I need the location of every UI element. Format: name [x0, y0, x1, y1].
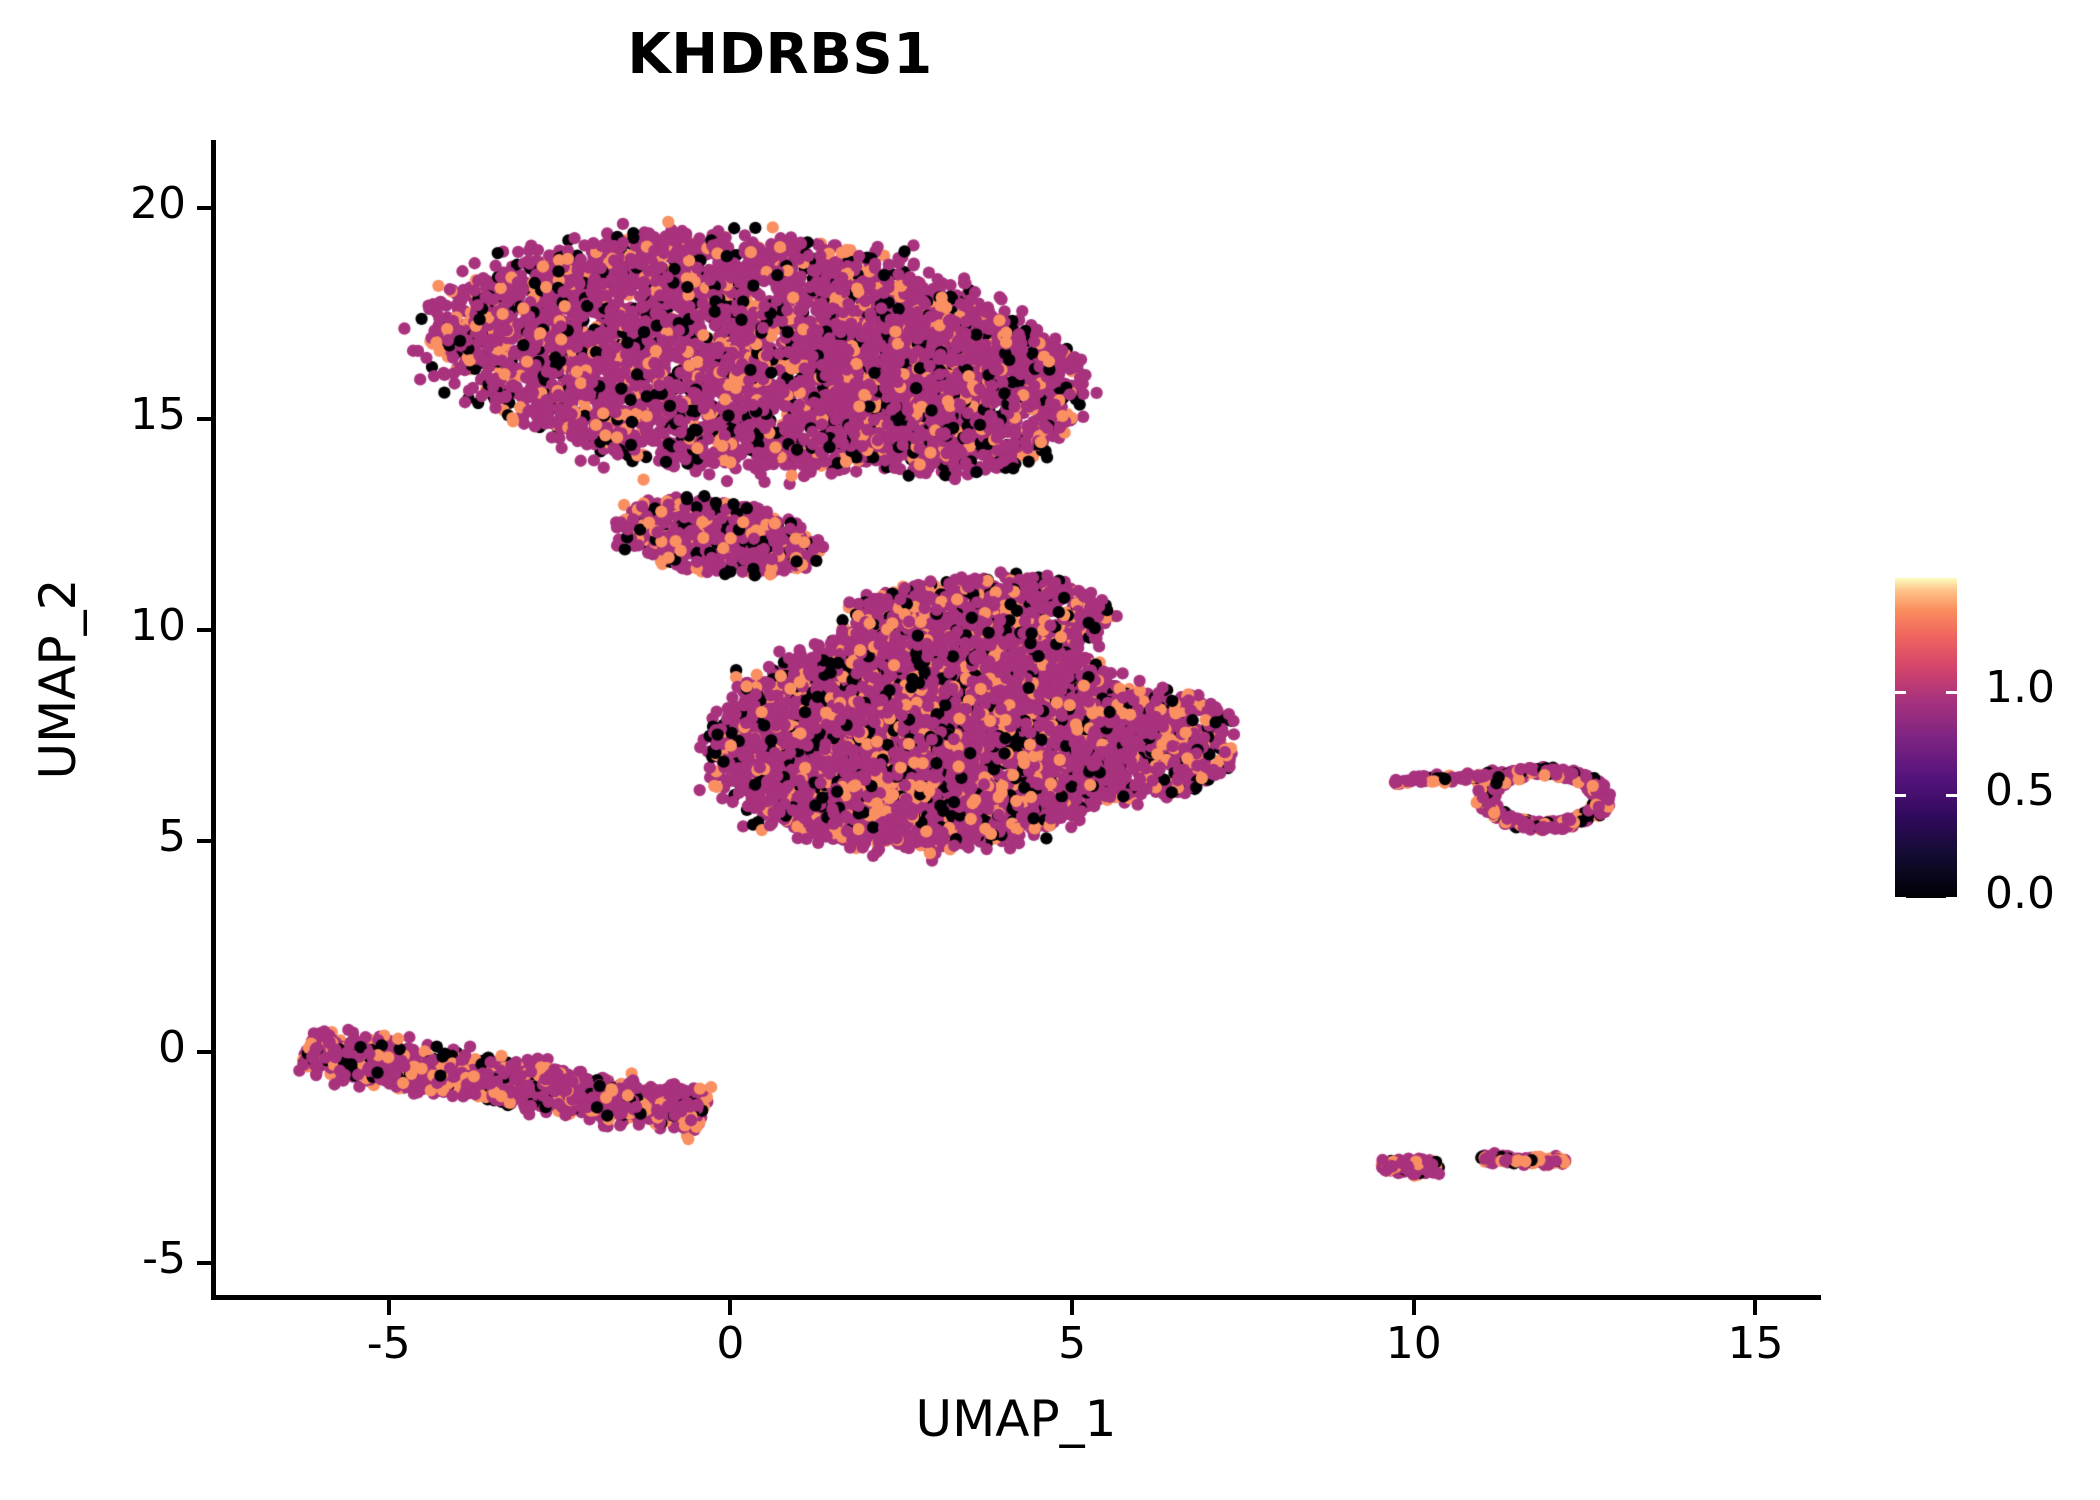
- y-tick-label: 20: [130, 178, 186, 229]
- x-tick-label: 15: [1675, 1318, 1835, 1369]
- colorbar-tick-label: 0.0: [1985, 868, 2055, 919]
- scatter-canvas: [211, 140, 1817, 1297]
- y-tick-mark: [197, 1261, 211, 1265]
- colorbar-tick-label: 1.0: [1985, 662, 2055, 713]
- y-tick-mark: [197, 628, 211, 632]
- y-tick-label: 0: [158, 1022, 186, 1073]
- y-tick-mark: [197, 839, 211, 843]
- colorbar-tick-mark: [1946, 691, 1957, 694]
- x-axis-spine: [211, 1295, 1821, 1300]
- y-tick-label: 10: [130, 600, 186, 651]
- x-tick-mark: [728, 1300, 732, 1315]
- colorbar-tick-label: 0.5: [1985, 765, 2055, 816]
- x-tick-mark: [1070, 1300, 1074, 1315]
- x-tick-label: 10: [1334, 1318, 1494, 1369]
- colorbar-tick-mark: [1946, 794, 1957, 797]
- y-tick-label: 15: [130, 389, 186, 440]
- x-tick-mark: [1753, 1300, 1757, 1315]
- plot-area: [211, 140, 1817, 1297]
- x-tick-label: 5: [992, 1318, 1152, 1369]
- y-axis-label: UMAP_2: [29, 329, 87, 1029]
- colorbar-tick-mark: [1895, 794, 1906, 797]
- y-tick-label: -5: [142, 1233, 186, 1284]
- colorbar-tick-mark: [1895, 691, 1906, 694]
- y-tick-mark: [197, 1050, 211, 1054]
- x-tick-mark: [387, 1300, 391, 1315]
- x-tick-mark: [1412, 1300, 1416, 1315]
- x-tick-label: -5: [309, 1318, 469, 1369]
- x-tick-label: 0: [650, 1318, 810, 1369]
- page-title: KHDRBS1: [0, 22, 1560, 87]
- x-axis-label: UMAP_1: [211, 1390, 1821, 1448]
- y-tick-mark: [197, 206, 211, 210]
- y-tick-label: 5: [158, 811, 186, 862]
- colorbar-gradient: [1895, 578, 1957, 898]
- colorbar: [1895, 578, 1957, 898]
- colorbar-tick-mark: [1895, 897, 1906, 900]
- umap-feature-plot: KHDRBS1 -505101520 -5051015 UMAP_1 UMAP_…: [0, 0, 2100, 1500]
- y-axis-spine: [211, 140, 216, 1300]
- y-tick-mark: [197, 417, 211, 421]
- colorbar-tick-mark: [1946, 897, 1957, 900]
